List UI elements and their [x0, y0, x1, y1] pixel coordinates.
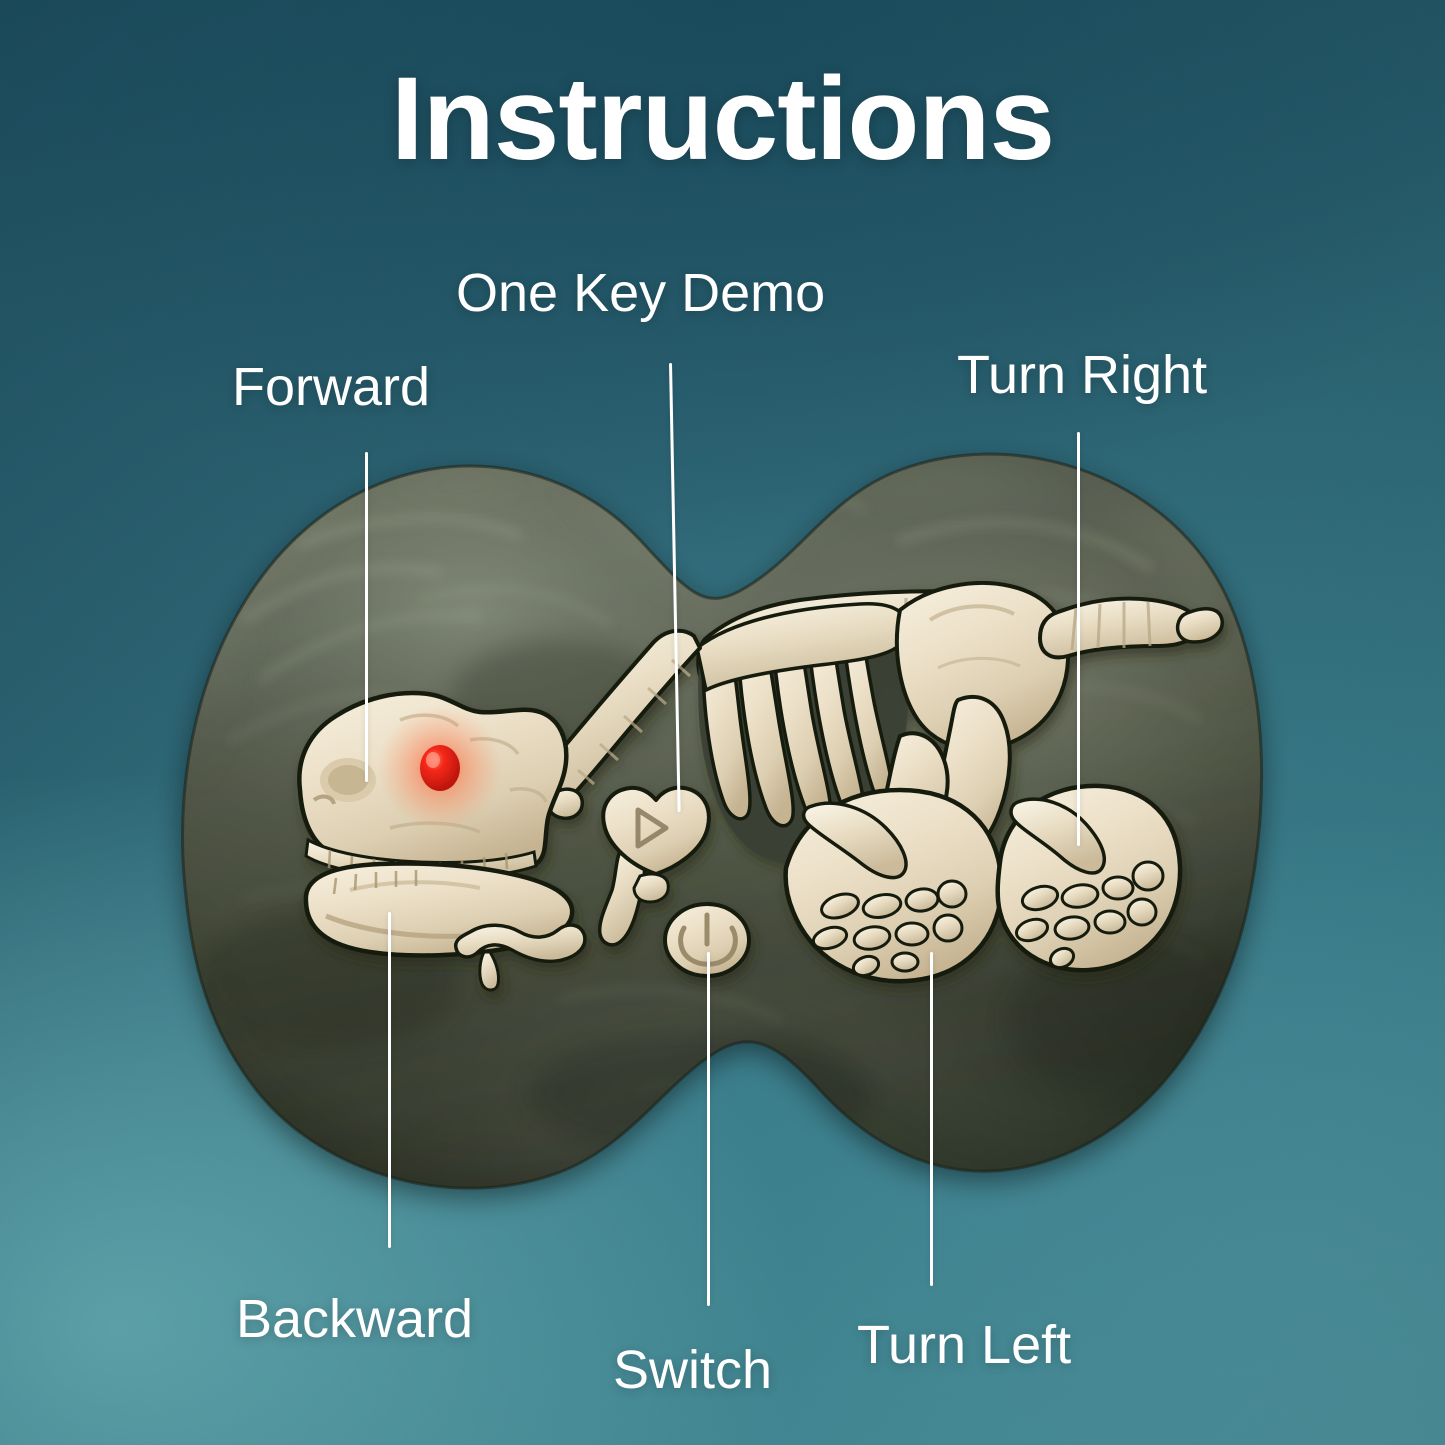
- leader-line-forward: [365, 452, 368, 782]
- leader-line-turn-left: [930, 952, 933, 1286]
- callout-label-backward: Backward: [236, 1288, 473, 1350]
- callout-label-forward: Forward: [232, 356, 430, 418]
- right-foot-plate: [998, 786, 1180, 971]
- callout-label-one-key-demo: One Key Demo: [456, 262, 825, 324]
- leader-line-turn-right: [1077, 432, 1080, 846]
- callout-label-switch: Switch: [613, 1339, 772, 1401]
- page-title: Instructions: [0, 58, 1445, 182]
- leader-line-backward: [388, 912, 391, 1248]
- red-led-indicator: [378, 706, 502, 830]
- callout-label-turn-right: Turn Right: [957, 344, 1207, 406]
- fossil-slab-illustration: [0, 0, 1445, 1445]
- callout-label-turn-left: Turn Left: [857, 1314, 1071, 1376]
- leader-line-switch: [707, 952, 710, 1306]
- instructions-poster: Instructions: [0, 0, 1445, 1445]
